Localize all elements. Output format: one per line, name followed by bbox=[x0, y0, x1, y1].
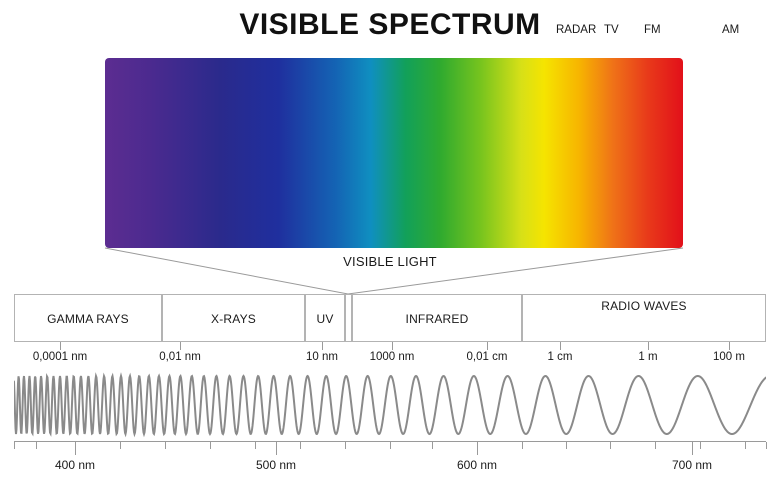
ruler-label-600: 600 nm bbox=[457, 458, 497, 472]
ruler-tick-major bbox=[276, 442, 277, 455]
region-gamma-rays-label: GAMMA RAYS bbox=[15, 312, 161, 326]
ruler-tick-minor bbox=[255, 442, 256, 449]
scale-label-5: 0,01 cm bbox=[467, 351, 508, 363]
scale-tick bbox=[322, 342, 323, 350]
ruler-tick-minor bbox=[700, 442, 701, 449]
region-infrared: INFRARED bbox=[352, 294, 522, 342]
radio-sub-label-tv: TV bbox=[604, 24, 619, 36]
scale-label-8: 100 m bbox=[713, 351, 745, 363]
scale-label-1: 0,0001 nm bbox=[33, 351, 87, 363]
radio-sub-label-radar: RADAR bbox=[556, 24, 596, 36]
radio-sub-label-am: AM bbox=[722, 24, 739, 36]
visible-light-label: VISIBLE LIGHT bbox=[0, 254, 780, 269]
scale-label-2: 0,01 nm bbox=[159, 351, 201, 363]
region-uv-label: UV bbox=[306, 312, 344, 326]
page-title: VISIBLE SPECTRUM bbox=[0, 8, 780, 42]
ruler-tick-minor bbox=[655, 442, 656, 449]
ruler-tick-minor bbox=[432, 442, 433, 449]
scale-tick bbox=[60, 342, 61, 350]
region-radio-waves: RADIO WAVES bbox=[522, 294, 766, 342]
region-uv: UV bbox=[305, 294, 345, 342]
ruler-label-500: 500 nm bbox=[256, 458, 296, 472]
radio-sub-label-fm: FM bbox=[644, 24, 661, 36]
ruler-tick-minor bbox=[522, 442, 523, 449]
scale-tick bbox=[487, 342, 488, 350]
scale-label-3: 10 nm bbox=[306, 351, 338, 363]
ruler-tick-minor bbox=[566, 442, 567, 449]
ruler-tick-major bbox=[75, 442, 76, 455]
ruler-tick-minor bbox=[120, 442, 121, 449]
ruler-tick-minor bbox=[390, 442, 391, 449]
ruler-tick-minor bbox=[610, 442, 611, 449]
ruler-tick-minor bbox=[165, 442, 166, 449]
ruler-tick-minor bbox=[745, 442, 746, 449]
ruler-tick-minor bbox=[210, 442, 211, 449]
ruler-tick-major bbox=[477, 442, 478, 455]
region-gamma-rays: GAMMA RAYS bbox=[14, 294, 162, 342]
ruler-label-700: 700 nm bbox=[672, 458, 712, 472]
ruler-tick-minor bbox=[345, 442, 346, 449]
ruler-label-400: 400 nm bbox=[55, 458, 95, 472]
ruler-tick-major bbox=[692, 442, 693, 455]
scale-label-6: 1 cm bbox=[548, 351, 573, 363]
scale-tick bbox=[560, 342, 561, 350]
region-infrared-label: INFRARED bbox=[353, 312, 521, 326]
scale-label-7: 1 m bbox=[638, 351, 657, 363]
ruler-tick-minor bbox=[36, 442, 37, 449]
region-visible-gap bbox=[345, 294, 352, 342]
scale-tick bbox=[180, 342, 181, 350]
ruler-tick-minor bbox=[14, 442, 15, 449]
infographic-canvas: VISIBLE SPECTRUM VISIBLE LIGHT GAMMA RAY… bbox=[0, 0, 780, 498]
region-x-rays-label: X-RAYS bbox=[163, 312, 304, 326]
ruler-tick-minor bbox=[766, 442, 767, 449]
scale-tick bbox=[648, 342, 649, 350]
ruler-tick-minor bbox=[300, 442, 301, 449]
scale-tick bbox=[392, 342, 393, 350]
region-radio-waves-label: RADIO WAVES bbox=[523, 299, 765, 313]
visible-spectrum-gradient-band bbox=[105, 58, 683, 248]
scale-label-4: 1000 nm bbox=[370, 351, 415, 363]
region-x-rays: X-RAYS bbox=[162, 294, 305, 342]
wavelength-wave-illustration bbox=[14, 372, 766, 438]
scale-tick bbox=[729, 342, 730, 350]
